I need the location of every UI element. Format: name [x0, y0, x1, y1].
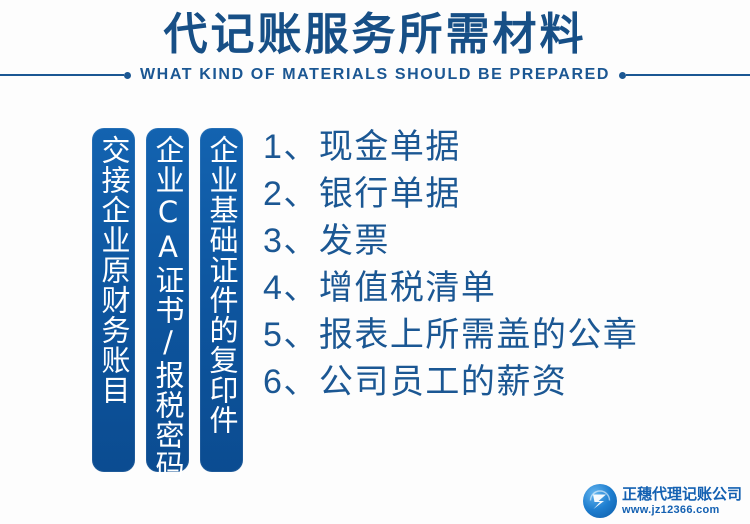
- list-item: 4、增值税清单: [263, 265, 733, 312]
- company-logo: 正穗代理记账公司 www.jz12366.com: [583, 484, 742, 518]
- pill-box-2: 企业CA证书/报税密码: [146, 128, 189, 472]
- page-subtitle: WHAT KIND OF MATERIALS SHOULD BE PREPARE…: [131, 66, 619, 84]
- list-item-number: 1、: [263, 128, 319, 166]
- list-item-number: 2、: [263, 175, 319, 213]
- list-item-label: 公司员工的薪资: [319, 362, 568, 402]
- list-item: 5、报表上所需盖的公章: [263, 312, 733, 359]
- header: 代记账服务所需材料 WHAT KIND OF MATERIALS SHOULD …: [0, 0, 750, 100]
- list-item: 6、公司员工的薪资: [263, 359, 733, 406]
- rule-dot-left: [124, 72, 131, 79]
- list-item-number: 6、: [263, 363, 319, 401]
- list-item-label: 增值税清单: [319, 268, 497, 308]
- rule-line-left: [0, 74, 124, 76]
- list-item-label: 发票: [319, 221, 390, 261]
- page-title: 代记账服务所需材料: [0, 8, 750, 62]
- logo-circle-icon: [583, 484, 617, 518]
- subtitle-rule: WHAT KIND OF MATERIALS SHOULD BE PREPARE…: [0, 64, 750, 86]
- list-item: 1、现金单据: [263, 124, 733, 171]
- materials-list: 1、现金单据 2、银行单据 3、发票 4、增值税清单 5、报表上所需盖的公章 6…: [263, 124, 733, 406]
- list-item-number: 3、: [263, 222, 319, 260]
- logo-text-block: 正穗代理记账公司 www.jz12366.com: [622, 487, 742, 516]
- pill-label-2: 企业CA证书/报税密码: [151, 135, 184, 465]
- list-item-number: 5、: [263, 316, 319, 354]
- vertical-pill-group: 交接企业原财务账目 企业CA证书/报税密码 企业基础证件的复印件: [92, 128, 243, 472]
- logo-website: www.jz12366.com: [622, 505, 742, 516]
- list-item-label: 银行单据: [319, 174, 461, 214]
- list-item-label: 现金单据: [319, 127, 461, 167]
- list-item-label: 报表上所需盖的公章: [319, 315, 639, 355]
- list-item: 3、发票: [263, 218, 733, 265]
- rule-line-right: [626, 74, 750, 76]
- list-item-number: 4、: [263, 269, 319, 307]
- logo-company-name: 正穗代理记账公司: [622, 487, 742, 502]
- pill-box-3: 企业基础证件的复印件: [200, 128, 243, 472]
- pill-label-3: 企业基础证件的复印件: [205, 135, 238, 435]
- list-item: 2、银行单据: [263, 171, 733, 218]
- pill-label-1: 交接企业原财务账目: [97, 135, 130, 405]
- poster-canvas: 代记账服务所需材料 WHAT KIND OF MATERIALS SHOULD …: [0, 0, 750, 524]
- pill-box-1: 交接企业原财务账目: [92, 128, 135, 472]
- rule-dot-right: [619, 72, 626, 79]
